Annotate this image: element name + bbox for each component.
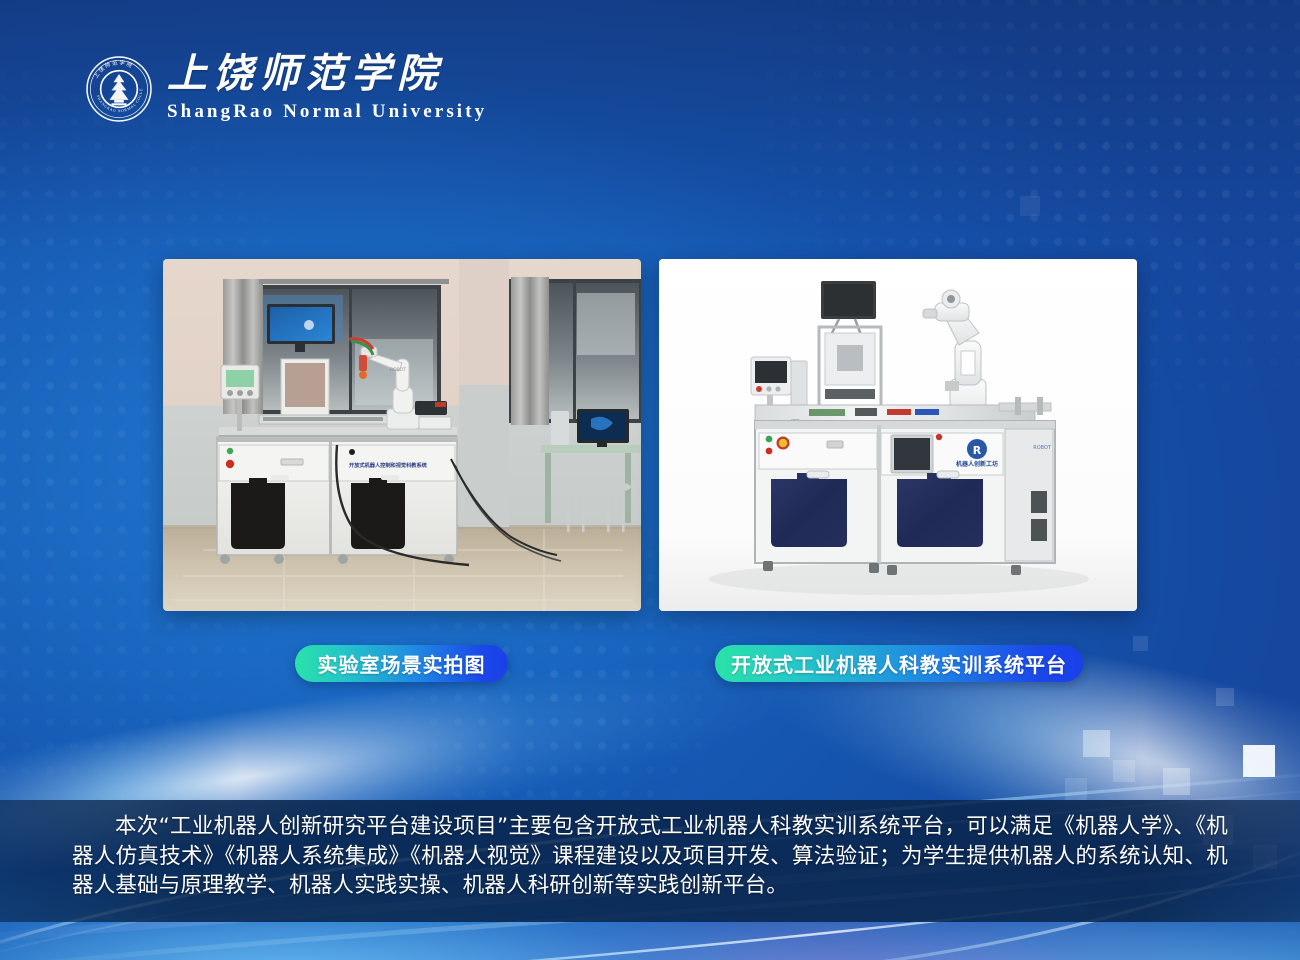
svg-text:上饶师范学院: 上饶师范学院 <box>92 58 135 79</box>
caption-pill-platform[interactable]: 开放式工业机器人科教实训系统平台 <box>715 645 1083 682</box>
svg-text:开放式机器人控制和视觉科教系统: 开放式机器人控制和视觉科教系统 <box>349 461 428 469</box>
university-seal-icon: 上饶师范学院 SHANGRAO NORMAL COLLEGE <box>85 55 153 123</box>
decorative-square <box>1020 196 1040 216</box>
logo-name-en: ShangRao Normal University <box>167 101 487 123</box>
svg-text:机器人创新工坊: 机器人创新工坊 <box>956 460 998 468</box>
slide-root: 上饶师范学院 SHANGRAO NORMAL COLLEGE 上饶师范学院 Sh… <box>0 0 1300 960</box>
robot-platform-render[interactable]: R 机器人创新工坊 ROBOT <box>659 259 1137 611</box>
description-paragraph: 本次“工业机器人创新研究平台建设项目”主要包含开放式工业机器人科教实训系统平台，… <box>72 812 1228 901</box>
laboratory-scene-illustration: ROBOT 开放式机器人控制和视觉科教系统 <box>163 259 641 611</box>
logo-text-block: 上饶师范学院 ShangRao Normal University <box>167 54 487 123</box>
caption-pill-laboratory[interactable]: 实验室场景实拍图 <box>295 645 508 682</box>
university-logo: 上饶师范学院 SHANGRAO NORMAL COLLEGE 上饶师范学院 Sh… <box>85 54 487 123</box>
logo-name-cn: 上饶师范学院 <box>167 54 487 94</box>
svg-text:ROBOT: ROBOT <box>390 367 406 373</box>
decorative-square <box>1133 636 1148 651</box>
laboratory-scene-photo[interactable]: ROBOT 开放式机器人控制和视觉科教系统 <box>163 259 641 611</box>
svg-text:ROBOT: ROBOT <box>1033 445 1052 451</box>
svg-text:R: R <box>973 444 982 457</box>
robot-platform-illustration: R 机器人创新工坊 ROBOT <box>659 259 1137 611</box>
